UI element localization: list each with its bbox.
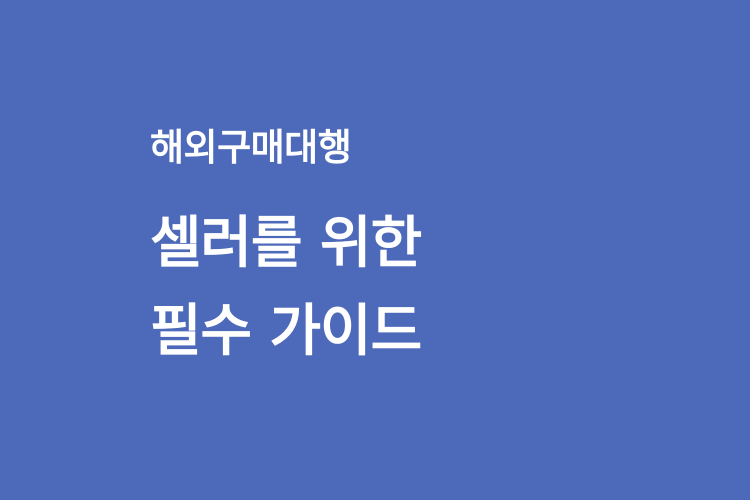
banner-headline: 셀러를 위한 필수 가이드 [150,200,710,376]
promo-banner: 해외구매대행 셀러를 위한 필수 가이드 [0,0,750,500]
banner-text-block: 해외구매대행 셀러를 위한 필수 가이드 [150,126,710,376]
banner-headline-line-1: 셀러를 위한 [150,200,710,288]
banner-eyebrow-text: 해외구매대행 [150,126,710,170]
banner-headline-line-2: 필수 가이드 [150,288,710,376]
